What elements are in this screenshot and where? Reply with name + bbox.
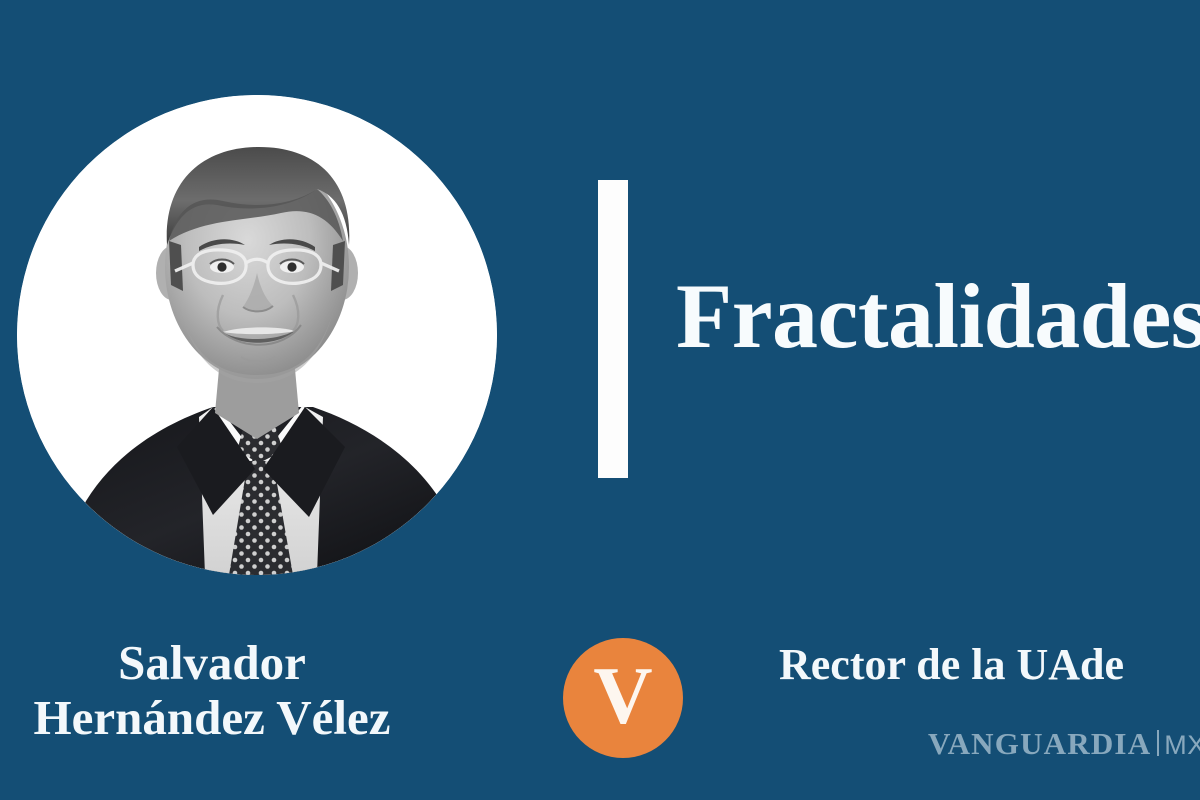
- vanguardia-watermark: VANGUARDIA MX: [928, 726, 1200, 762]
- author-name: Salvador Hernández Vélez: [0, 636, 442, 746]
- author-role: Rector de la UAde: [779, 639, 1124, 690]
- author-portrait-image: [17, 95, 497, 575]
- watermark-brand-text: VANGUARDIA: [928, 726, 1151, 762]
- vanguardia-v-badge: V: [563, 638, 683, 758]
- author-name-line-2: Hernández Vélez: [0, 691, 442, 746]
- badge-letter-v: V: [593, 655, 652, 737]
- vertical-divider-rule: [598, 180, 628, 478]
- watermark-suffix-mx: MX: [1164, 730, 1200, 761]
- author-portrait: [17, 95, 497, 575]
- watermark-separator-bar: [1157, 730, 1159, 756]
- column-title: Fractalidades: [676, 268, 1200, 365]
- article-hero-banner: Fractalidades Salvador Hernández Vélez V…: [0, 0, 1200, 800]
- author-name-line-1: Salvador: [0, 636, 442, 691]
